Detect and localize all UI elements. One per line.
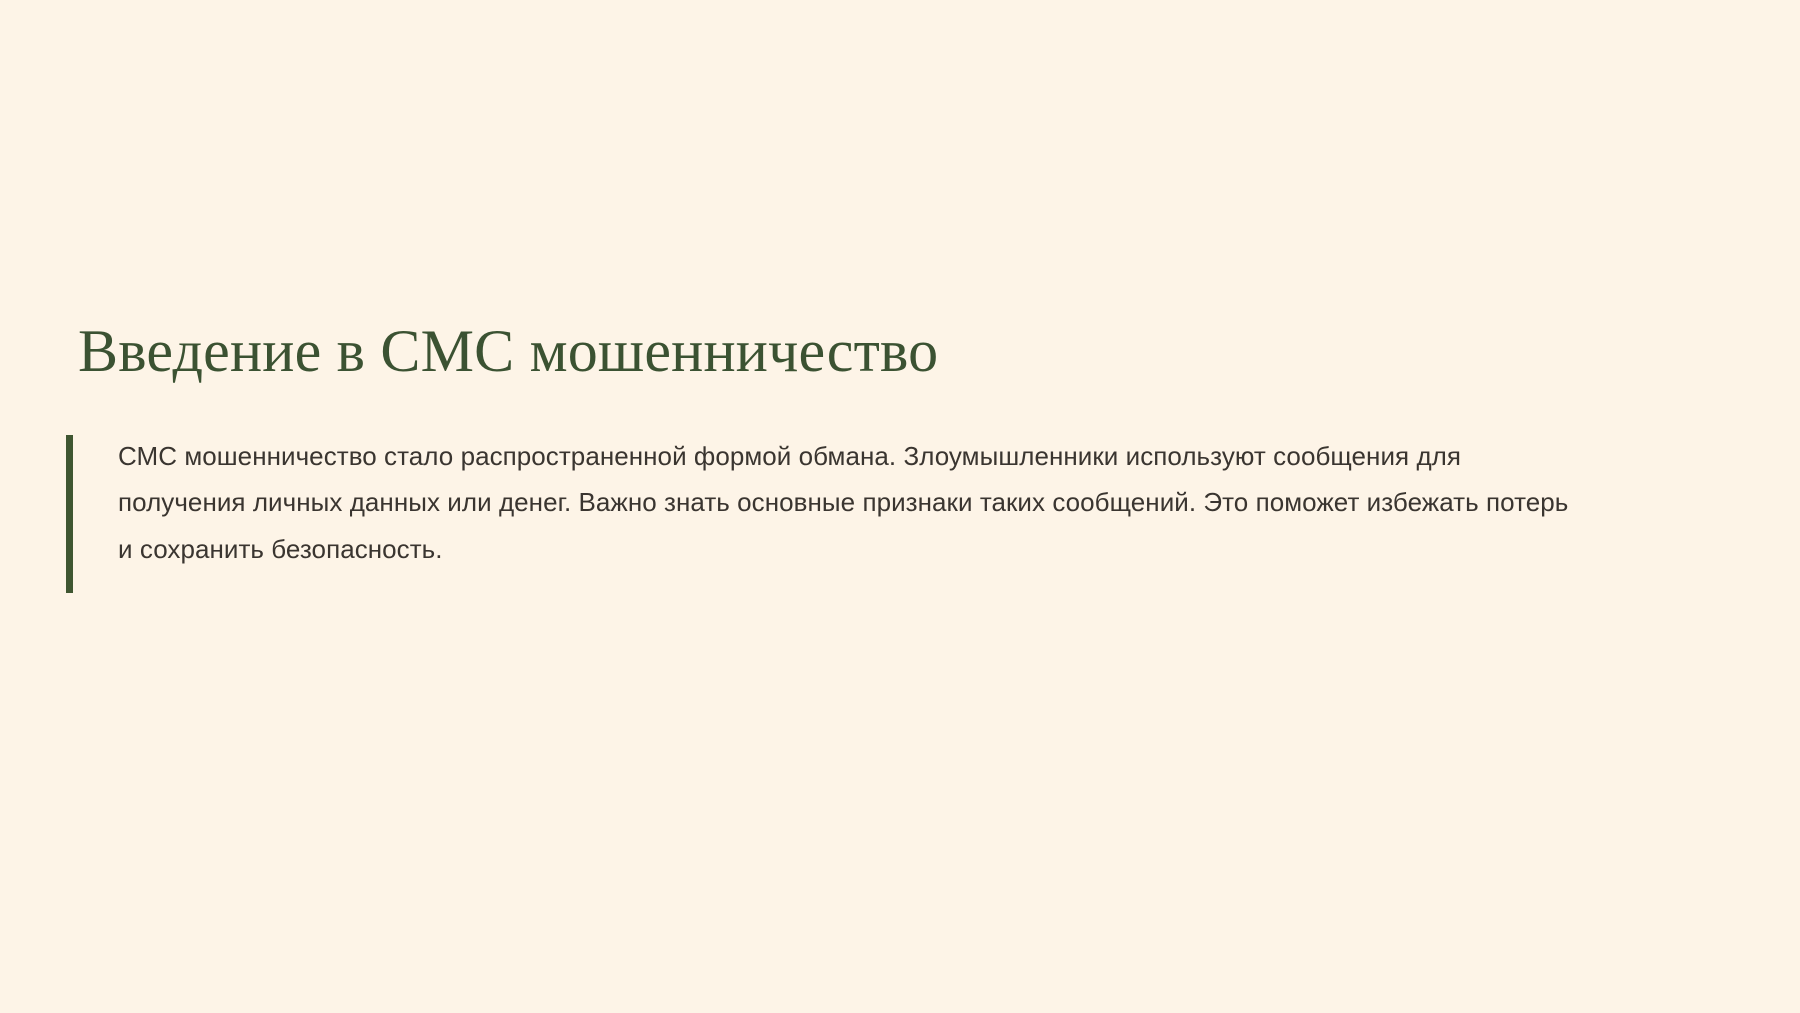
body-callout: СМС мошенничество стало распространенной… [66, 433, 1756, 572]
content-block: Введение в СМС мошенничество СМС мошенни… [66, 318, 1756, 572]
page-title: Введение в СМС мошенничество [66, 318, 1756, 385]
body-paragraph: СМС мошенничество стало распространенной… [118, 433, 1578, 572]
slide-canvas: Введение в СМС мошенничество СМС мошенни… [0, 0, 1800, 1013]
accent-bar [66, 435, 73, 593]
